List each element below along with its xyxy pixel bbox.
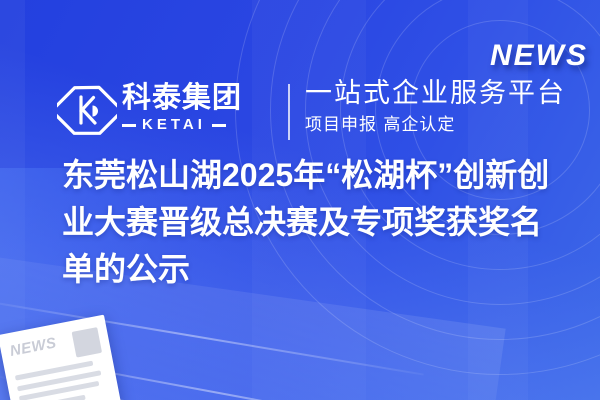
banner-header: 科泰集团 KETAI 一站式企业服务平台 项目申报 高企认定 NEWS	[0, 34, 600, 114]
logo-dash-right	[212, 124, 226, 127]
logo-wordmark: 科泰集团 KETAI	[122, 82, 242, 133]
paper-thumbnail-block	[72, 327, 102, 357]
page-title: 东莞松山湖2025年“松湖杯”创新创业大赛晋级总决赛及专项奖获奖名单的公示	[62, 152, 572, 293]
ketai-logo-icon	[57, 80, 117, 140]
logo-company-en-text: KETAI	[142, 117, 206, 133]
header-tagline: 一站式企业服务平台 项目申报 高企认定	[305, 78, 566, 136]
news-banner: 科泰集团 KETAI 一站式企业服务平台 项目申报 高企认定 NEWS 东莞松山…	[0, 0, 600, 400]
tagline-main-text: 一站式企业服务平台	[305, 78, 566, 110]
tagline-sub-text: 项目申报 高企认定	[305, 114, 566, 136]
logo-dash-left	[122, 124, 136, 127]
paper-heading-label: NEWS	[9, 334, 58, 360]
logo-company-name-en: KETAI	[122, 117, 242, 133]
news-badge-label: NEWS	[490, 38, 588, 74]
header-divider	[288, 84, 290, 140]
logo-company-name-cn: 科泰集团	[122, 82, 242, 114]
